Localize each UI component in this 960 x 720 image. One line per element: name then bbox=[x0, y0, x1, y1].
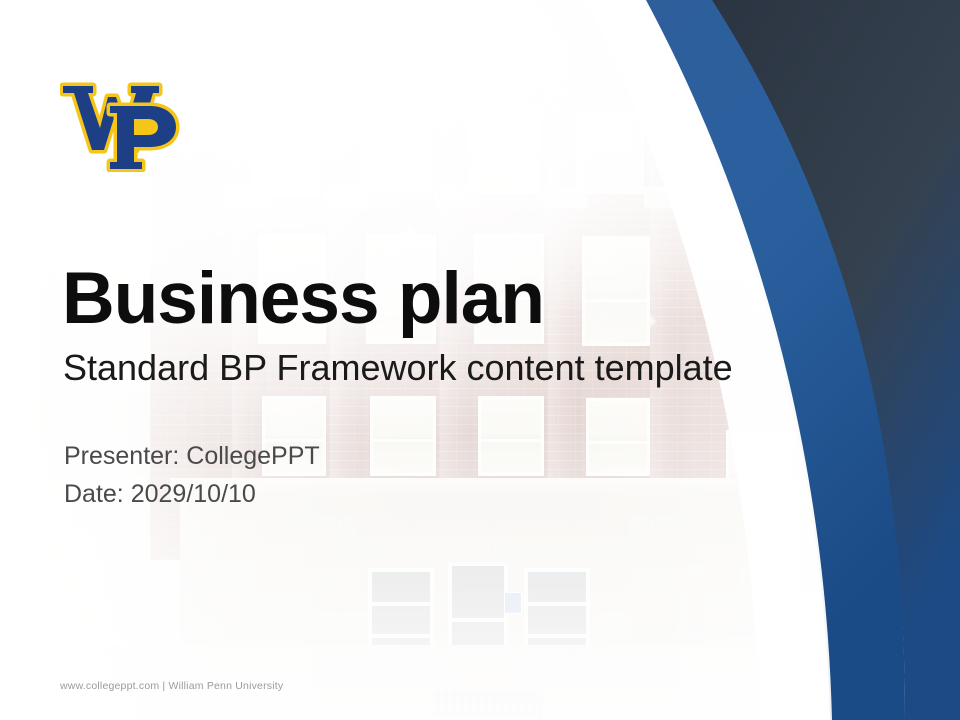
logo-letter-p bbox=[110, 106, 176, 169]
footer-attribution: www.collegeppt.com | William Penn Univer… bbox=[60, 680, 283, 692]
slide-title: Business plan bbox=[62, 262, 544, 335]
slide-subtitle: Standard BP Framework content template bbox=[63, 350, 733, 386]
date-line: Date: 2029/10/10 bbox=[64, 482, 256, 507]
presenter-line: Presenter: CollegePPT bbox=[64, 444, 320, 469]
wp-logo bbox=[60, 72, 182, 172]
presentation-slide: Business plan Standard BP Framework cont… bbox=[0, 0, 960, 720]
